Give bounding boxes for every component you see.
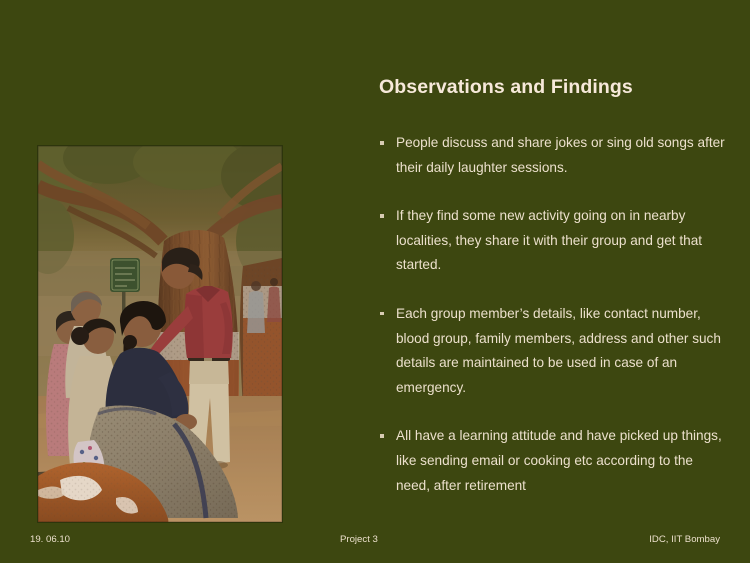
- bullet-item: All have a learning attitude and have pi…: [379, 424, 727, 498]
- bullet-marker-icon: [380, 434, 384, 438]
- bullet-marker-icon: [380, 214, 384, 218]
- footer-project: Project 3: [340, 534, 378, 545]
- bullet-item: If they find some new activity going on …: [379, 204, 727, 278]
- footer-date: 19. 06.10: [30, 534, 70, 545]
- slide-title: Observations and Findings: [379, 76, 724, 99]
- bullet-text: People discuss and share jokes or sing o…: [396, 131, 727, 180]
- bullet-text: Each group member’s details, like contac…: [396, 302, 727, 400]
- slide-footer: 19. 06.10 Project 3 IDC, IIT Bombay: [0, 528, 750, 563]
- bullet-item: People discuss and share jokes or sing o…: [379, 131, 727, 180]
- bullet-text: If they find some new activity going on …: [396, 204, 727, 278]
- bullet-list: People discuss and share jokes or sing o…: [379, 131, 727, 498]
- bullet-marker-icon: [380, 312, 384, 316]
- park-photograph: [38, 146, 282, 522]
- bullet-marker-icon: [380, 141, 384, 145]
- slide-canvas: Observations and Findings People discuss…: [0, 0, 750, 563]
- bullet-text: All have a learning attitude and have pi…: [396, 424, 727, 498]
- bullet-item: Each group member’s details, like contac…: [379, 302, 727, 400]
- photo-frame: [38, 146, 282, 522]
- footer-affiliation: IDC, IIT Bombay: [649, 534, 720, 545]
